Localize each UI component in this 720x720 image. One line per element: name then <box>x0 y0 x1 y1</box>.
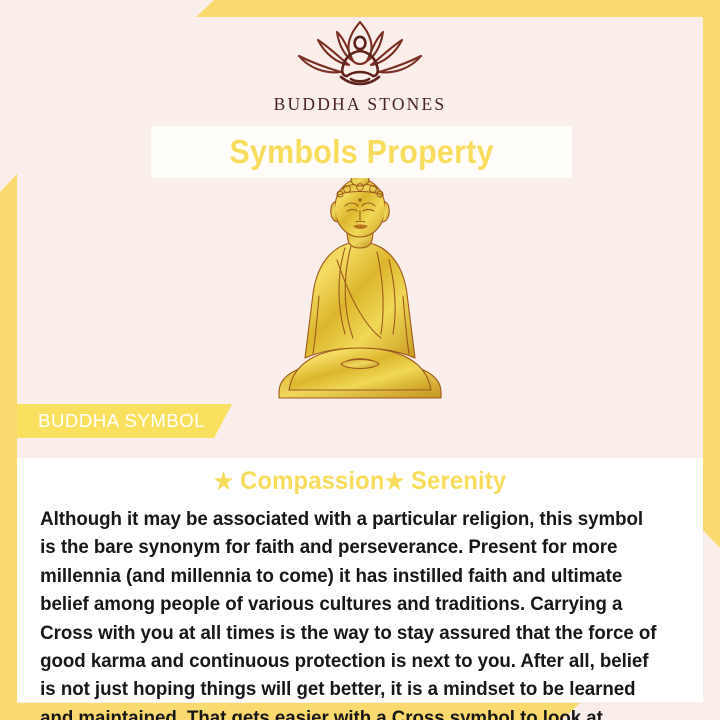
brand-name: BUDDHA STONES <box>0 94 720 115</box>
lotus-meditation-icon <box>285 18 435 90</box>
brand-logo: BUDDHA STONES <box>0 18 720 115</box>
description-paragraph: Although it may be associated with a par… <box>17 496 679 720</box>
decor-strip-top <box>196 0 720 17</box>
star-icon-serenity: ★ <box>385 468 405 494</box>
virtues-heading: ★Compassion★Serenity <box>34 458 686 496</box>
decor-strip-left <box>0 174 17 710</box>
title-band: Symbols Property <box>151 126 572 178</box>
poster-root: BUDDHA STONES Symbols Property <box>0 0 720 720</box>
content-panel: ★Compassion★Serenity Although it may be … <box>17 458 703 702</box>
virtue-serenity: Serenity <box>411 467 506 495</box>
buddha-symbol-tag: BUDDHA SYMBOL <box>17 404 232 438</box>
golden-seated-buddha-statue <box>259 178 461 400</box>
star-icon-compassion: ★ <box>214 468 234 494</box>
page-title: Symbols Property <box>229 133 493 171</box>
buddha-symbol-tag-label: BUDDHA SYMBOL <box>38 410 205 432</box>
virtue-compassion: Compassion <box>240 467 384 495</box>
